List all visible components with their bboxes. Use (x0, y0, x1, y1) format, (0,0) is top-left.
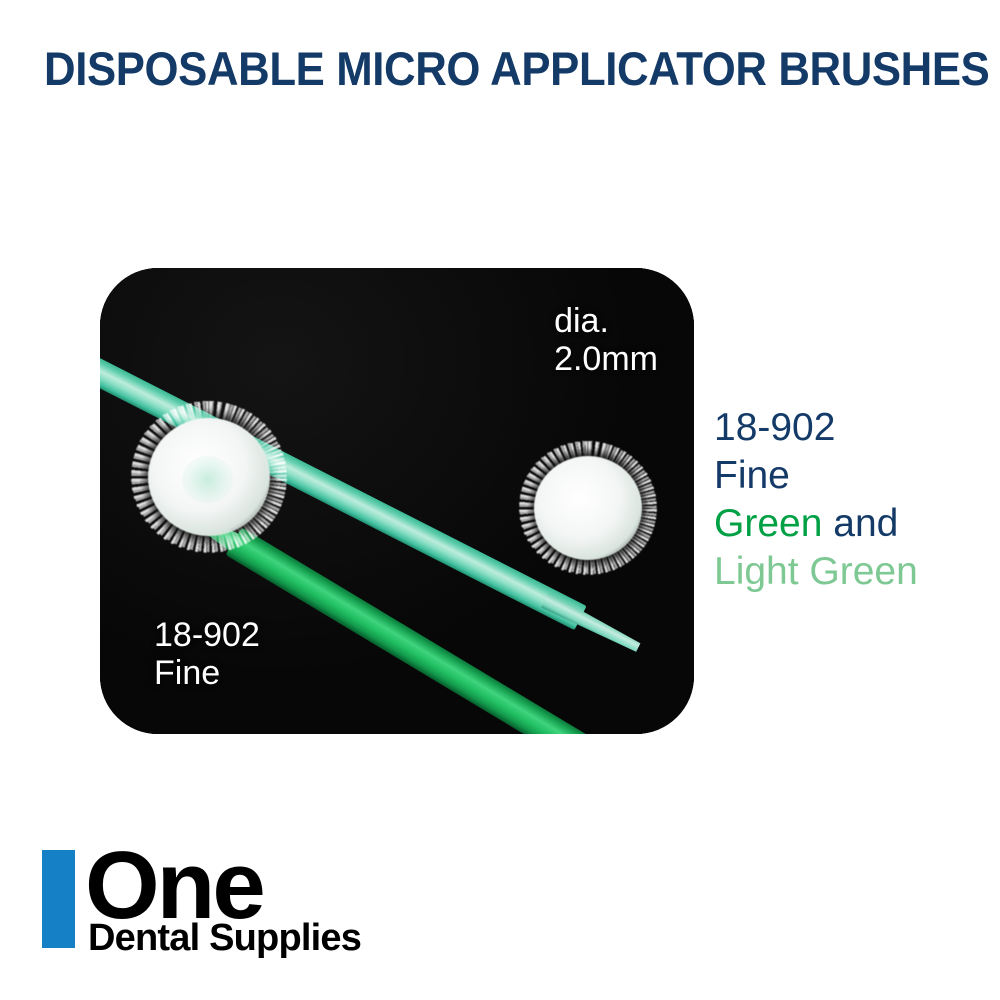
spec-grade: Fine (714, 452, 918, 500)
spec-color-green: Green (714, 502, 822, 545)
spec-color-light-green: Light Green (714, 548, 918, 596)
diameter-label: dia. 2.0mm (554, 302, 658, 378)
tip-core (182, 456, 233, 503)
logo-tagline: Dental Supplies (88, 918, 361, 958)
logo-blue-bar (42, 850, 75, 948)
product-photo-panel: dia. 2.0mm 18-902 Fine (100, 268, 694, 734)
spec-conjunction: and (833, 502, 898, 545)
spec-colors-primary: Green and (714, 500, 918, 548)
applicator-brush-tip-left (148, 418, 270, 536)
applicator-brush-tip-right (534, 456, 642, 560)
brand-logo: One Dental Supplies (42, 846, 372, 958)
product-code-label: 18-902 Fine (154, 616, 260, 692)
spec-block: 18-902 Fine Green and Light Green (714, 404, 918, 596)
page-title: DISPOSABLE MICRO APPLICATOR BRUSHES (44, 44, 909, 94)
spec-code: 18-902 (714, 404, 918, 452)
